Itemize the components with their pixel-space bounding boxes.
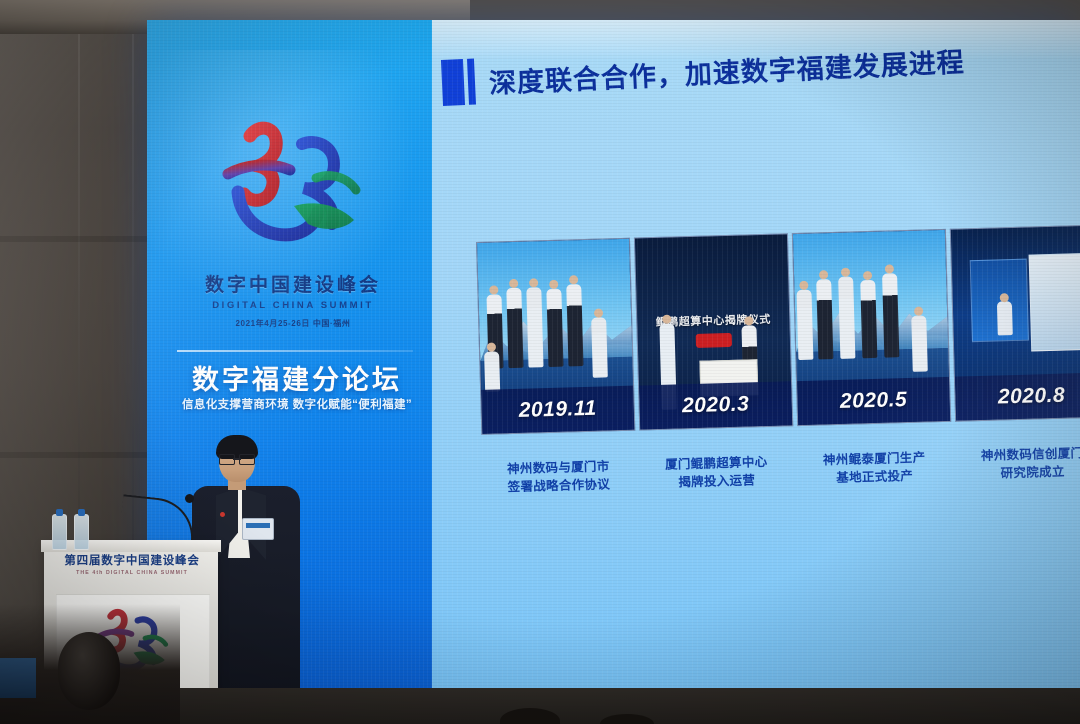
presentation-slide: 深度联合合作，加速数字福建发展进程 <box>432 20 1080 692</box>
lapel-pin <box>220 512 225 517</box>
timeline-caption: 神州鲲泰厦门生产 基地正式投产 <box>798 448 951 488</box>
timeline-date: 2020.8 <box>998 384 1066 410</box>
timeline-item: 鲲鹏超算中心揭牌仪式 2020.3 厦门鲲鹏超算中心 揭牌投入运营 <box>634 233 794 517</box>
blue-equipment-box <box>0 658 36 698</box>
dark-round-object <box>58 632 120 710</box>
forum-title: 数字福建分论坛 <box>173 358 421 397</box>
podium-sign-en: THE 4th DIGITAL CHINA SUMMIT <box>54 570 210 576</box>
timeline-caption-line2: 研究院成立 <box>956 462 1080 484</box>
timeline-caption-line2: 基地正式投产 <box>798 466 950 488</box>
screen-glow <box>147 50 417 310</box>
conference-photo-scene: 数字中国建设峰会 DIGITAL CHINA SUMMIT 2021年4月25-… <box>0 0 1080 724</box>
timeline-caption: 厦门鲲鹏超算中心 揭牌投入运营 <box>640 452 793 492</box>
timeline-date: 2019.11 <box>518 397 596 423</box>
summit-logo-name-cn: 数字中国建设峰会 <box>193 270 393 297</box>
timeline-date-chip: 2020.5 <box>797 377 950 425</box>
milestone-timeline: 2019.11 神州数码与厦门市 签署战略合作协议 鲲鹏超算中心揭牌仪式 <box>476 225 1080 522</box>
timeline-caption-line2: 揭牌投入运营 <box>641 470 793 492</box>
plaque-unveiling-photo: 鲲鹏超算中心揭牌仪式 2020.3 <box>634 233 793 430</box>
timeline-date-chip: 2020.8 <box>955 372 1080 420</box>
research-institute-photo: 2020.8 <box>950 224 1080 421</box>
summit-logo-name-en: DIGITAL CHINA SUMMIT <box>193 300 393 311</box>
timeline-item: 2020.5 神州鲲泰厦门生产 基地正式投产 <box>792 229 952 513</box>
podium-sign-cn: 第四届数字中国建设峰会 <box>54 554 210 568</box>
forum-subtitle: 信息化支撑营商环境 数字化赋能“便利福建” <box>169 396 425 412</box>
name-badge <box>242 518 274 540</box>
red-ribbon <box>695 333 731 348</box>
foreground-audience <box>480 694 740 724</box>
timeline-item: 2019.11 神州数码与厦门市 签署战略合作协议 <box>476 238 636 522</box>
slide-title: 深度联合合作，加速数字福建发展进程 <box>488 40 965 101</box>
timeline-item: 2020.8 神州数码信创厦门 研究院成立 <box>950 225 1080 509</box>
timeline-date-chip: 2020.3 <box>639 381 792 429</box>
timeline-date: 2020.5 <box>840 388 908 414</box>
stage-screen-right <box>1029 253 1080 352</box>
shu-calligraphy-logo <box>198 118 388 268</box>
summit-logo-date: 2021年4月25-26日 中国·福州 <box>193 318 393 329</box>
summit-logo-block: 数字中国建设峰会 DIGITAL CHINA SUMMIT 2021年4月25-… <box>193 118 393 333</box>
water-bottle <box>52 514 67 550</box>
timeline-caption: 神州数码信创厦门 研究院成立 <box>956 443 1080 483</box>
water-bottle <box>74 514 89 550</box>
timeline-date: 2020.3 <box>682 392 750 418</box>
title-marker-icon <box>441 59 476 106</box>
podium-sign: 第四届数字中国建设峰会 THE 4th DIGITAL CHINA SUMMIT <box>54 554 210 582</box>
divider <box>177 350 413 352</box>
timeline-caption-line2: 签署战略合作协议 <box>483 475 635 497</box>
glasses-icon <box>219 454 255 463</box>
timeline-date-chip: 2019.11 <box>481 386 634 434</box>
signing-ceremony-photo: 2019.11 <box>476 238 635 435</box>
production-base-photo: 2020.5 <box>792 229 951 426</box>
timeline-caption: 神州数码与厦门市 签署战略合作协议 <box>482 457 635 497</box>
